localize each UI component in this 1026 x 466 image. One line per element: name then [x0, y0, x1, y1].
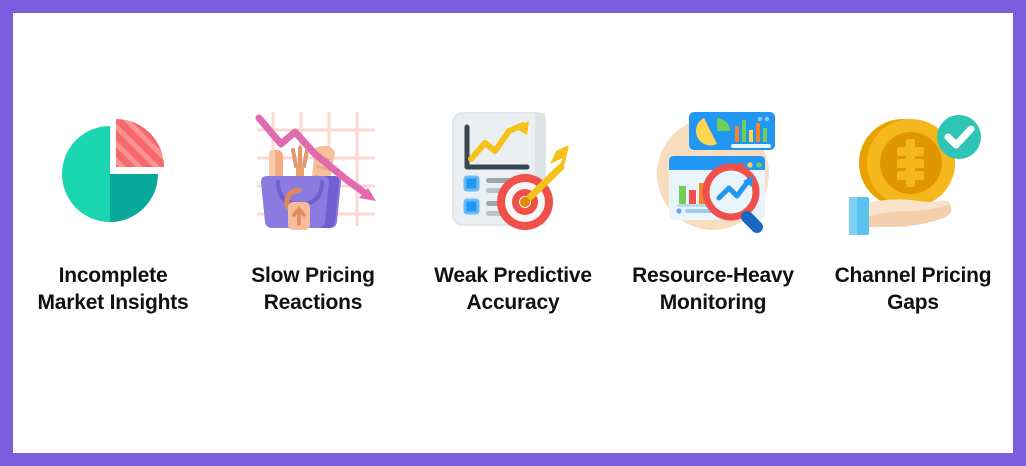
poster-frame: Incomplete Market Insights: [0, 0, 1026, 466]
pain-point-item: Slow Pricing Reactions: [213, 101, 413, 317]
pain-point-item: Incomplete Market Insights: [13, 101, 213, 317]
pain-point-item: Resource-Heavy Monitoring: [613, 101, 813, 317]
pie-chart-icon: [38, 101, 188, 241]
pain-point-label: Weak Predictive Accuracy: [434, 263, 592, 317]
report-target-icon: [438, 101, 588, 241]
coin-hand-check-icon: [838, 101, 988, 241]
dashboard-magnifier-icon: [638, 101, 788, 241]
pain-point-label: Resource-Heavy Monitoring: [632, 263, 794, 317]
shopping-bag-declining-chart-icon: [238, 101, 388, 241]
pain-point-item: Weak Predictive Accuracy: [413, 101, 613, 317]
pain-points-row: Incomplete Market Insights: [13, 13, 1013, 317]
pain-point-item: Channel Pricing Gaps: [813, 101, 1013, 317]
pain-point-label: Slow Pricing Reactions: [251, 263, 375, 317]
pain-point-label: Channel Pricing Gaps: [835, 263, 992, 317]
pain-point-label: Incomplete Market Insights: [37, 263, 188, 317]
poster-canvas: Incomplete Market Insights: [13, 13, 1013, 453]
